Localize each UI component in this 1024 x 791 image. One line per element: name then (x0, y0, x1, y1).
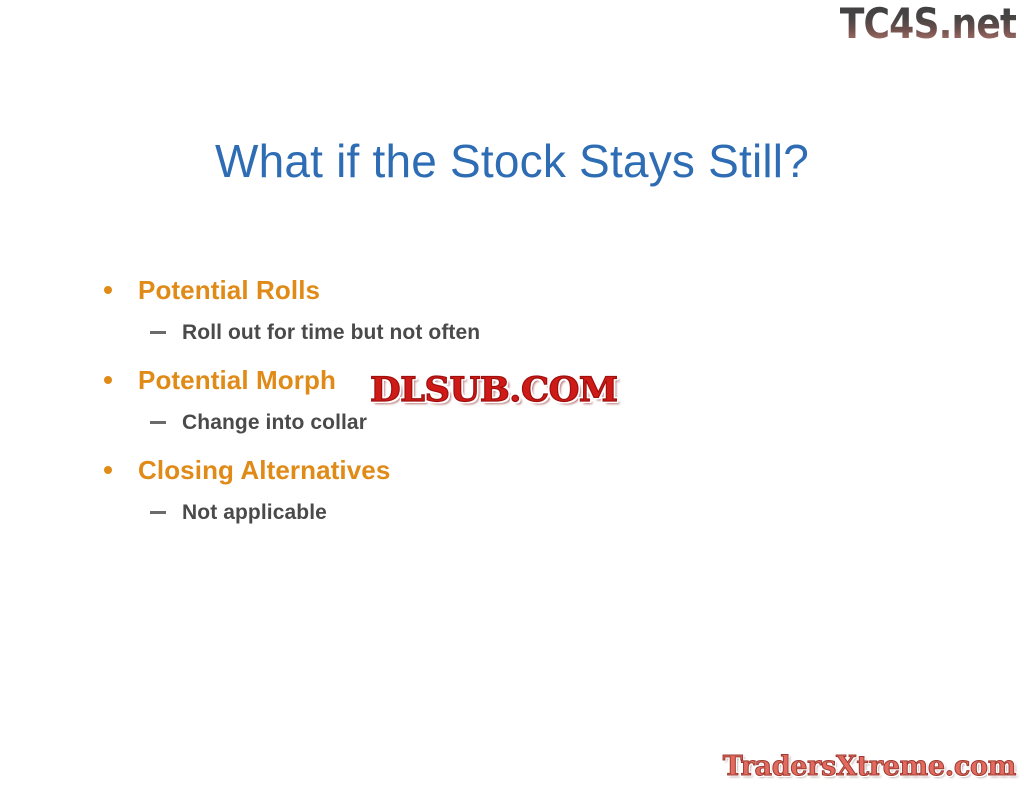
tradersxtreme-footer-watermark: TradersXtreme.com (723, 751, 1016, 783)
bullet-label: Closing Alternatives (138, 455, 390, 485)
subbullet-label: Not applicable (182, 501, 327, 524)
bullet-label: Potential Morph (138, 365, 336, 395)
bullet-label: Potential Rolls (138, 275, 320, 305)
bullet-item-level2: Not applicable (92, 492, 812, 534)
bullet-item-level2: Roll out for time but not often (92, 312, 812, 354)
bullet-dot-icon (104, 286, 112, 294)
bullet-group: Closing Alternatives Not applicable (92, 448, 812, 534)
tc4s-site-logo: TC4S.net (839, 2, 1016, 46)
bullet-group: Potential Rolls Roll out for time but no… (92, 268, 812, 354)
dash-bullet-icon (150, 511, 166, 514)
subbullet-label: Change into collar (182, 411, 367, 434)
bullet-item-level1: Potential Rolls (92, 268, 812, 312)
dlsub-overlay-watermark: DLSUB.COM (370, 370, 618, 410)
subbullet-label: Roll out for time but not often (182, 321, 480, 344)
bullet-dot-icon (104, 466, 112, 474)
dash-bullet-icon (150, 331, 166, 334)
dash-bullet-icon (150, 421, 166, 424)
presentation-slide: TC4S.net What if the Stock Stays Still? … (0, 0, 1024, 791)
bullet-dot-icon (104, 376, 112, 384)
bullet-item-level1: Closing Alternatives (92, 448, 812, 492)
slide-title: What if the Stock Stays Still? (0, 132, 1024, 190)
